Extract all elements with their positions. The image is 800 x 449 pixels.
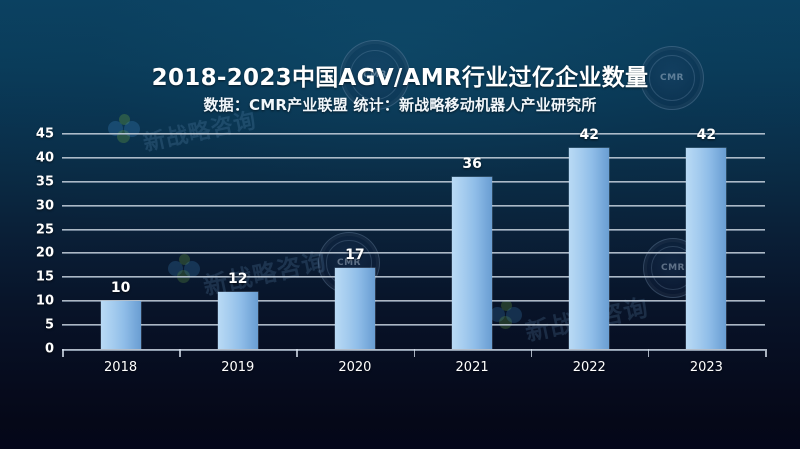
x-axis-label-2022: 2022 [549,360,629,375]
x-axis-label-2019: 2019 [198,360,278,375]
bar-2023[interactable] [686,148,726,349]
x-axis-label-2023: 2023 [666,360,746,375]
x-axis-tick [765,349,767,357]
x-axis-tick [296,349,298,357]
x-axis-tick [179,349,181,357]
y-axis-tick-label: 45 [14,127,54,142]
y-axis-labels: 051015202530354045 [8,134,54,349]
y-axis-tick-label: 5 [14,318,54,333]
bar-2022[interactable] [569,148,609,349]
y-axis-tick-label: 0 [14,342,54,357]
bar-2021[interactable] [452,177,492,349]
y-axis-tick-label: 20 [14,246,54,261]
chart-subtitle: 数据：CMR产业联盟 统计：新战略移动机器人产业研究所 [0,94,800,115]
x-axis-label-2018: 2018 [81,360,161,375]
gridline [62,133,765,135]
bar-value-label-2018: 10 [91,280,151,296]
gridline [62,229,765,231]
gridline [62,181,765,183]
x-axis-tick [531,349,533,357]
y-axis-tick-label: 40 [14,150,54,165]
gridline [62,252,765,254]
x-axis-tick [62,349,64,357]
x-axis-label-2021: 2021 [432,360,512,375]
x-axis-tick [648,349,650,357]
gridline [62,276,765,278]
x-axis-label-2020: 2020 [315,360,395,375]
chart-title: 2018-2023中国AGV/AMR行业过亿企业数量 [0,58,800,92]
plot-area [62,134,765,349]
chart-canvas: CMR CMR CMR CMR 新战略咨询 新战略 [0,0,800,449]
bar-2020[interactable] [335,268,375,349]
gridline [62,324,765,326]
gridline [62,205,765,207]
bar-value-label-2021: 36 [442,156,502,172]
y-axis-tick-label: 30 [14,198,54,213]
bar-2019[interactable] [218,292,258,349]
gridline [62,157,765,159]
y-axis-tick-label: 35 [14,174,54,189]
y-axis-tick-label: 10 [14,294,54,309]
bar-value-label-2022: 42 [559,127,619,143]
y-axis-tick-label: 15 [14,270,54,285]
bar-value-label-2023: 42 [676,127,736,143]
bar-2018[interactable] [101,301,141,349]
y-axis-tick-label: 25 [14,222,54,237]
bar-value-label-2019: 12 [208,271,268,287]
bar-value-label-2020: 17 [325,247,385,263]
x-axis-tick [414,349,416,357]
gridline [62,300,765,302]
